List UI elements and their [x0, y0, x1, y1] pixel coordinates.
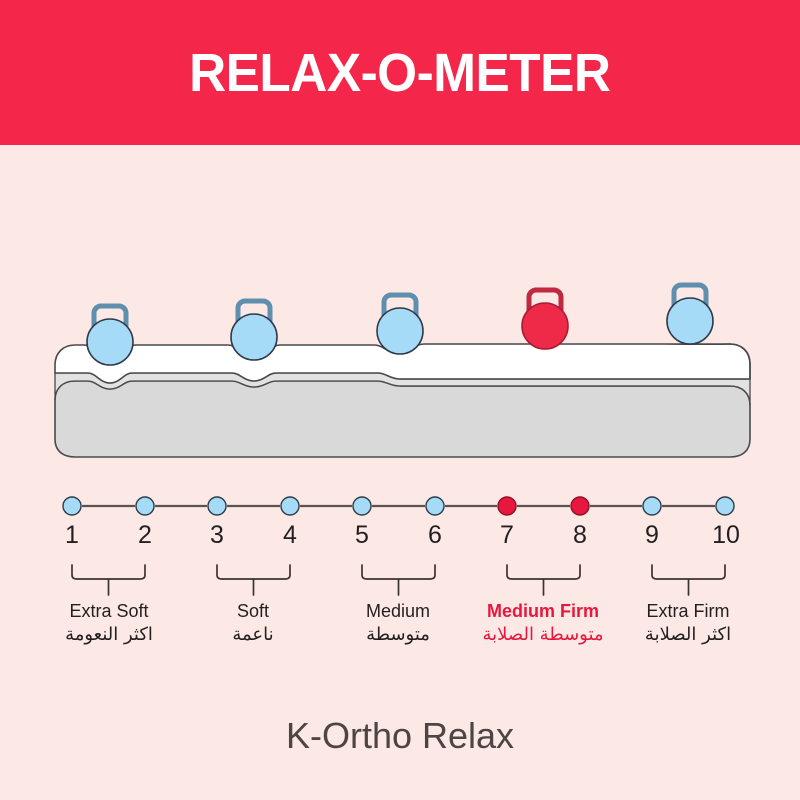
- scale-label-3: 3: [210, 523, 224, 548]
- scale-label-10: 10: [712, 523, 740, 548]
- scale-dot-9[interactable]: [643, 497, 661, 515]
- firmness-scale-track: [63, 497, 734, 515]
- scale-label-9: 9: [645, 523, 659, 548]
- kettlebell-body-icon: [87, 319, 133, 365]
- header-banner: RELAX-O-METER: [0, 0, 800, 145]
- scale-dot-10[interactable]: [716, 497, 734, 515]
- scale-label-2: 2: [138, 523, 152, 548]
- scale-number-row: 1 2 3 4 5 6 7 8 9 10: [0, 523, 800, 557]
- weight-5-kettlebell: [667, 285, 713, 344]
- kettlebell-body-icon: [377, 308, 423, 354]
- scale-label-6: 6: [428, 523, 442, 548]
- weight-2-kettlebell: [231, 301, 277, 360]
- firmness-group-extra-soft[interactable]: Extra Soft اكثر النعومة: [65, 600, 153, 647]
- firmness-group-medium[interactable]: Medium متوسطة: [366, 600, 430, 647]
- mattress-illustration: [55, 344, 750, 457]
- scale-label-8: 8: [573, 523, 587, 548]
- firmness-label-ar: متوسطة الصلابة: [482, 623, 603, 647]
- firmness-label-en: Medium Firm: [482, 600, 603, 623]
- scale-dot-6[interactable]: [426, 497, 444, 515]
- firmness-label-en: Extra Soft: [65, 600, 153, 623]
- firmness-brackets: [72, 565, 725, 595]
- scale-dot-1[interactable]: [63, 497, 81, 515]
- kettlebell-body-icon: [522, 303, 568, 349]
- firmness-label-en: Extra Firm: [645, 600, 731, 623]
- bracket-medium: [362, 565, 435, 595]
- scale-label-1: 1: [65, 523, 79, 548]
- page-title: RELAX-O-METER: [189, 42, 610, 104]
- scale-label-4: 4: [283, 523, 297, 548]
- mattress-scale-diagram: [0, 145, 800, 800]
- firmness-label-ar: اكثر الصلابة: [645, 623, 731, 647]
- mattress-top-flat-right: [402, 345, 728, 377]
- scale-dot-5[interactable]: [353, 497, 371, 515]
- scale-label-7: 7: [500, 523, 514, 548]
- firmness-group-extra-firm[interactable]: Extra Firm اكثر الصلابة: [645, 600, 731, 647]
- product-name: K-Ortho Relax: [0, 715, 800, 757]
- weight-4-kettlebell-selected: [522, 290, 568, 349]
- scale-dot-7-selected[interactable]: [498, 497, 516, 515]
- firmness-group-soft[interactable]: Soft ناعمة: [232, 600, 273, 647]
- firmness-group-medium-firm-selected[interactable]: Medium Firm متوسطة الصلابة: [482, 600, 603, 647]
- weight-1-kettlebell: [87, 306, 133, 365]
- bracket-medium-firm: [507, 565, 580, 595]
- scale-dot-2[interactable]: [136, 497, 154, 515]
- weight-3-kettlebell: [377, 295, 423, 354]
- bracket-extra-soft: [72, 565, 145, 595]
- kettlebell-body-icon: [231, 314, 277, 360]
- bracket-soft: [217, 565, 290, 595]
- scale-dot-3[interactable]: [208, 497, 226, 515]
- scale-dot-8-selected[interactable]: [571, 497, 589, 515]
- firmness-label-row: Extra Soft اكثر النعومة Soft ناعمة Mediu…: [0, 600, 800, 680]
- bracket-extra-firm: [652, 565, 725, 595]
- firmness-label-en: Soft: [232, 600, 273, 623]
- scale-label-5: 5: [355, 523, 369, 548]
- relax-o-meter-illustration: 1 2 3 4 5 6 7 8 9 10 Extra Soft اكثر الن…: [0, 145, 800, 800]
- kettlebell-body-icon: [667, 298, 713, 344]
- mattress-core-layer: [55, 381, 750, 457]
- firmness-label-ar: اكثر النعومة: [65, 623, 153, 647]
- firmness-label-en: Medium: [366, 600, 430, 623]
- firmness-label-ar: ناعمة: [232, 623, 273, 647]
- firmness-label-ar: متوسطة: [366, 623, 430, 647]
- scale-dot-4[interactable]: [281, 497, 299, 515]
